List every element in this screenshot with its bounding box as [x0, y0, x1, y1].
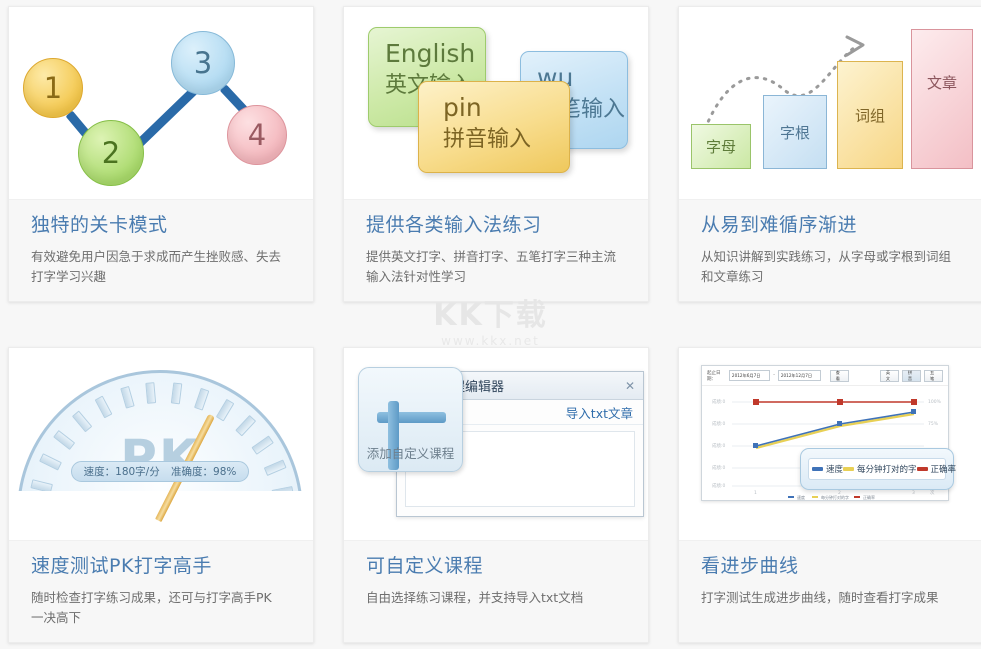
card-description: 随时检查打字练习成果，还可与打字高手PK一决高下 — [31, 588, 283, 628]
card-title: 提供各类输入法练习 — [366, 212, 632, 238]
date-from-input[interactable]: 2012年6月7日 — [729, 370, 770, 381]
ime-pinyin-chinese: 拼音输入 — [443, 124, 569, 155]
gauge-accuracy-value: 准确度：98% — [171, 464, 236, 479]
course-editor-illustration: 课程编辑器 ✕ 导入txt文章 添加自定义课程 — [344, 348, 648, 540]
level-mode-illustration: 1 2 3 4 — [9, 7, 313, 199]
feature-card-grid: 1 2 3 4 独特的关卡模式 有效避免用户因急于求成而产生挫败感、失去打字学习… — [0, 0, 981, 649]
card-description: 自由选择练习课程，并支持导入txt文档 — [366, 588, 618, 608]
bar-letters: 字母 — [691, 124, 751, 169]
card-title: 从易到难循序渐进 — [701, 212, 967, 238]
ime-pinyin-latin: pin — [443, 92, 569, 124]
card-title: 看进步曲线 — [701, 553, 967, 579]
feature-card-custom-course[interactable]: 课程编辑器 ✕ 导入txt文章 添加自定义课程 可自定义课程 自由选择练习课程，… — [343, 347, 649, 643]
gauge-stats-pill: 速度：180字/分 准确度：98% — [71, 461, 249, 482]
level-node-4[interactable]: 4 — [227, 105, 287, 165]
chart-legend: 速度 每分钟打对的字 正确率 — [808, 458, 946, 480]
svg-text:3: 3 — [912, 490, 915, 496]
chart-plot-area: 成绩:0 成绩:0 成绩:0 成绩:0 成绩:0 100% 75% 50 — [702, 386, 948, 502]
level-node-3[interactable]: 3 — [171, 31, 235, 95]
svg-text:成绩:0: 成绩:0 — [712, 482, 726, 489]
close-icon[interactable]: ✕ — [625, 379, 635, 393]
legend-label-speed: 速度 — [826, 463, 843, 475]
card-title: 独特的关卡模式 — [31, 212, 297, 238]
add-custom-course-label: 添加自定义课程 — [359, 443, 462, 462]
chart-legend-callout: 速度 每分钟打对的字 正确率 — [800, 448, 954, 490]
feature-card-progress-curve[interactable]: 起止日期： 2012年6月7日 - 2012年12月7日 查看 英文 拼音 五笔 — [678, 347, 981, 643]
level-node-graph: 1 2 3 4 — [9, 7, 313, 199]
card-description: 提供英文打字、拼音打字、五笔打字三种主流输入法针对性学习 — [366, 247, 618, 287]
legend-item-speed: 速度 — [812, 463, 843, 475]
input-method-illustration: English 英文输入 wu 五笔输入 pin 拼音输入 — [344, 7, 648, 199]
feature-card-level-mode[interactable]: 1 2 3 4 独特的关卡模式 有效避免用户因急于求成而产生挫败感、失去打字学习… — [8, 6, 314, 302]
card-body: 速度测试PK打字高手 随时检查打字练习成果，还可与打字高手PK一决高下 — [9, 540, 313, 642]
legend-label-accuracy: 正确率 — [931, 463, 957, 475]
gauge-speed-value: 速度：180字/分 — [84, 464, 160, 479]
svg-text:100%: 100% — [928, 399, 942, 405]
svg-text:正确率: 正确率 — [863, 494, 875, 500]
ime-card-pinyin: pin 拼音输入 — [418, 81, 570, 173]
legend-item-accuracy: 正确率 — [917, 463, 957, 475]
legend-item-cpm: 每分钟打对的字 — [843, 463, 917, 475]
card-body: 可自定义课程 自由选择练习课程，并支持导入txt文档 — [344, 540, 648, 642]
ime-english-latin: English — [385, 38, 485, 70]
mode-button-pinyin[interactable]: 拼音 — [902, 370, 921, 382]
card-body: 提供各类输入法练习 提供英文打字、拼音打字、五笔打字三种主流输入法针对性学习 — [344, 199, 648, 301]
speed-gauge-illustration: PK 速度：180字/分 准确度：98% — [9, 348, 313, 540]
legend-marker-cpm — [843, 467, 854, 471]
feature-card-input-methods[interactable]: English 英文输入 wu 五笔输入 pin 拼音输入 提供各类输入法练习 … — [343, 6, 649, 302]
card-title: 可自定义课程 — [366, 553, 632, 579]
card-description: 打字测试生成进步曲线，随时查看打字成果 — [701, 588, 953, 608]
card-body: 看进步曲线 打字测试生成进步曲线，随时查看打字成果 — [679, 540, 981, 642]
progressive-bars-illustration: 字母 字根 词组 文章 — [679, 7, 981, 199]
svg-text:成绩:0: 成绩:0 — [712, 464, 726, 471]
card-body: 从易到难循序渐进 从知识讲解到实践练习，从字母或字根到词组和文章练习 — [679, 199, 981, 301]
difficulty-bar-group: 字母 字根 词组 文章 — [691, 9, 973, 169]
legend-marker-speed — [812, 467, 823, 471]
progress-chart-illustration: 起止日期： 2012年6月7日 - 2012年12月7日 查看 英文 拼音 五笔 — [679, 348, 981, 540]
svg-text:75%: 75% — [928, 421, 939, 427]
import-txt-link[interactable]: 导入txt文章 — [566, 403, 633, 422]
date-range-label: 起止日期： — [707, 370, 726, 382]
add-custom-course-button[interactable]: 添加自定义课程 — [358, 367, 463, 472]
svg-text:1: 1 — [754, 490, 757, 496]
progress-chart-panel: 起止日期： 2012年6月7日 - 2012年12月7日 查看 英文 拼音 五笔 — [701, 365, 949, 501]
svg-text:成绩:0: 成绩:0 — [712, 420, 726, 427]
query-button[interactable]: 查看 — [830, 370, 849, 382]
feature-card-speed-test[interactable]: PK 速度：180字/分 准确度：98% 速度测试PK打字高手 随时检查打字练习… — [8, 347, 314, 643]
legend-label-cpm: 每分钟打对的字 — [857, 463, 917, 475]
bar-articles: 文章 — [911, 29, 973, 169]
svg-text:成绩:0: 成绩:0 — [712, 442, 726, 449]
mode-button-english[interactable]: 英文 — [880, 370, 899, 382]
svg-text:成绩:0: 成绩:0 — [712, 398, 726, 405]
date-to-input[interactable]: 2012年12月7日 — [778, 370, 821, 381]
feature-card-progressive-difficulty[interactable]: 字母 字根 词组 文章 从易到难循序渐进 从知识讲解到实践练习，从字母或字根到词… — [678, 6, 981, 302]
card-body: 独特的关卡模式 有效避免用户因急于求成而产生挫败感、失去打字学习兴趣 — [9, 199, 313, 301]
level-node-2[interactable]: 2 — [78, 120, 144, 186]
svg-text:每分钟打对的字: 每分钟打对的字 — [821, 494, 849, 500]
bar-phrases: 词组 — [837, 61, 903, 169]
bar-radicals: 字根 — [763, 95, 827, 169]
legend-marker-accuracy — [917, 467, 928, 471]
chart-toolbar: 起止日期： 2012年6月7日 - 2012年12月7日 查看 英文 拼音 五笔 — [702, 366, 948, 386]
svg-text:速度: 速度 — [797, 494, 805, 500]
card-description: 从知识讲解到实践练习，从字母或字根到词组和文章练习 — [701, 247, 953, 287]
mode-button-wubi[interactable]: 五笔 — [924, 370, 943, 382]
card-title: 速度测试PK打字高手 — [31, 553, 297, 579]
svg-text:次: 次 — [930, 489, 935, 496]
level-node-1[interactable]: 1 — [23, 58, 83, 118]
date-separator: - — [773, 373, 775, 378]
card-description: 有效避免用户因急于求成而产生挫败感、失去打字学习兴趣 — [31, 247, 283, 287]
